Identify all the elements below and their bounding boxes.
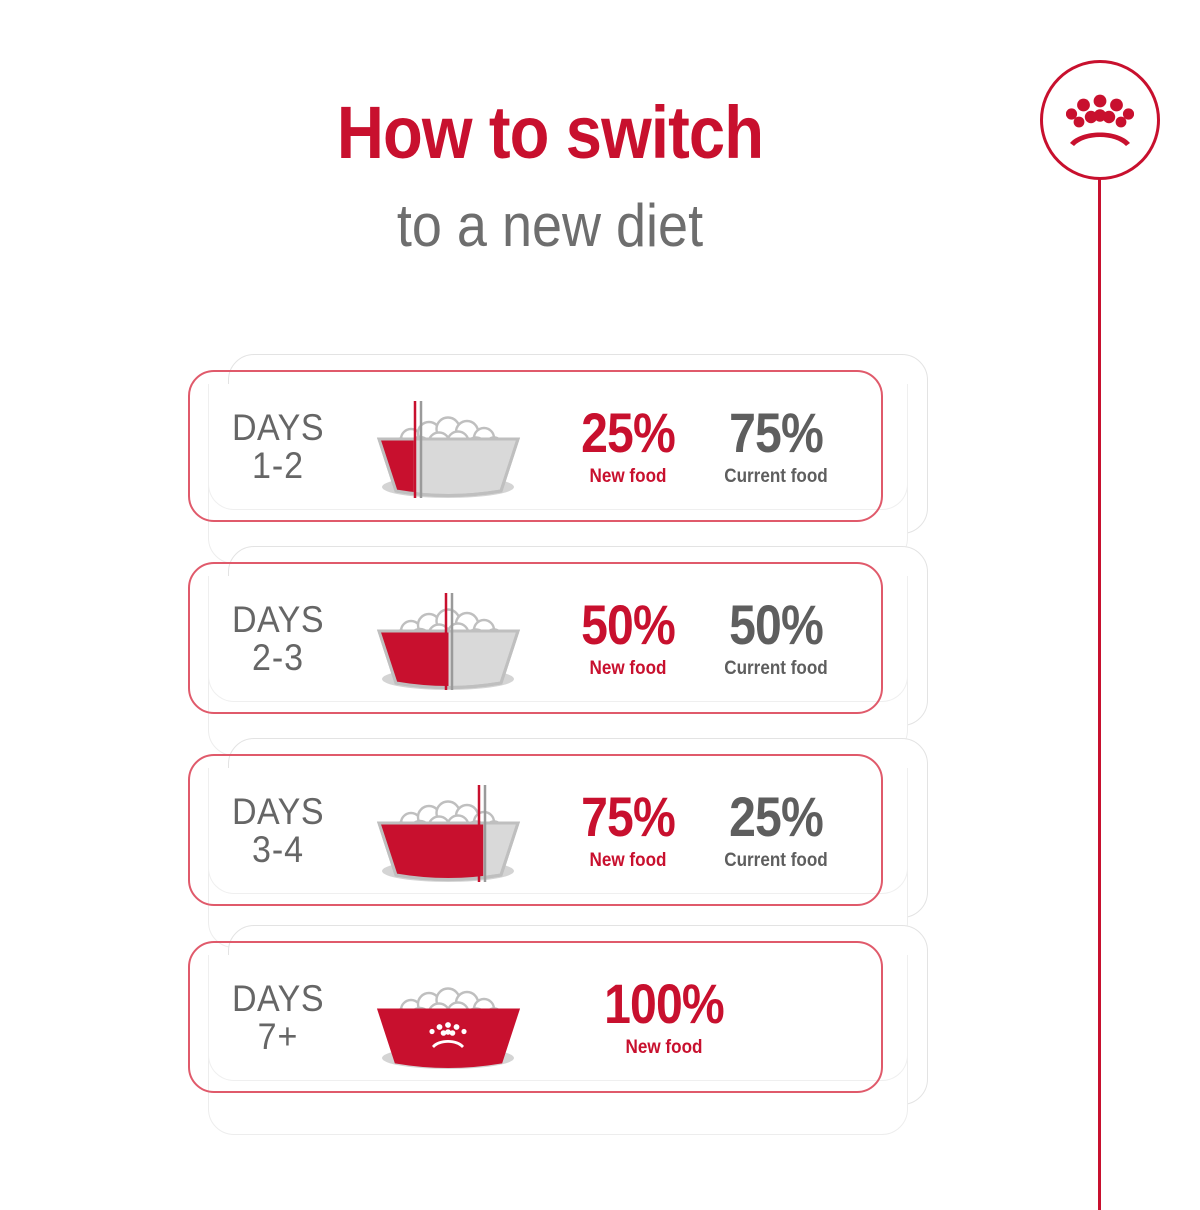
new-food-stat: 75% New food	[554, 790, 702, 872]
days-block: DAYS 2-3	[214, 601, 343, 676]
new-food-percent: 50%	[564, 598, 691, 652]
days-word: DAYS	[214, 601, 343, 639]
days-range: 2-3	[214, 639, 343, 677]
bowl-cell	[348, 587, 548, 692]
bowl-cell	[348, 779, 548, 884]
current-food-percent: 25%	[712, 790, 839, 844]
stats-block: 50% New food 50% Current food	[548, 598, 908, 680]
new-food-percent: 100%	[569, 977, 758, 1031]
current-food-stat: 25% Current food	[702, 790, 850, 872]
stats-block: 75% New food 25% Current food	[548, 790, 908, 872]
days-word: DAYS	[214, 980, 343, 1018]
current-food-label: Current food	[709, 658, 842, 680]
new-food-label: New food	[561, 466, 694, 488]
current-food-percent: 50%	[712, 598, 839, 652]
new-food-label: New food	[561, 658, 694, 680]
steps-list: DAYS 1-2	[0, 0, 1200, 1200]
step-card[interactable]: DAYS 7+	[188, 941, 928, 1121]
new-food-stat: 50% New food	[554, 598, 702, 680]
days-word: DAYS	[214, 409, 343, 447]
days-range: 7+	[214, 1018, 343, 1056]
pet-bowl-icon	[361, 779, 536, 884]
new-food-percent: 25%	[564, 406, 691, 460]
current-food-label: Current food	[709, 850, 842, 872]
new-food-stat: 100% New food	[554, 977, 774, 1059]
pet-bowl-icon	[361, 395, 536, 500]
stats-block: 100% New food	[548, 977, 908, 1059]
new-food-percent: 75%	[564, 790, 691, 844]
days-range: 3-4	[214, 831, 343, 869]
new-food-stat: 25% New food	[554, 406, 702, 488]
pet-bowl-icon	[361, 587, 536, 692]
bowl-cell	[348, 395, 548, 500]
new-food-label: New food	[561, 850, 694, 872]
current-food-stat: 75% Current food	[702, 406, 850, 488]
step-card[interactable]: DAYS 1-2	[188, 370, 928, 550]
current-food-percent: 75%	[712, 406, 839, 460]
pet-bowl-icon	[361, 966, 536, 1071]
step-card[interactable]: DAYS 3-4	[188, 754, 928, 934]
current-food-label: Current food	[709, 466, 842, 488]
bowl-cell	[348, 966, 548, 1071]
days-block: DAYS 1-2	[214, 409, 343, 484]
new-food-label: New food	[565, 1037, 763, 1059]
days-block: DAYS 3-4	[214, 793, 343, 868]
days-range: 1-2	[214, 447, 343, 485]
current-food-stat: 50% Current food	[702, 598, 850, 680]
days-word: DAYS	[214, 793, 343, 831]
stats-block: 25% New food 75% Current food	[548, 406, 908, 488]
step-card[interactable]: DAYS 2-3	[188, 562, 928, 742]
days-block: DAYS 7+	[214, 980, 343, 1055]
